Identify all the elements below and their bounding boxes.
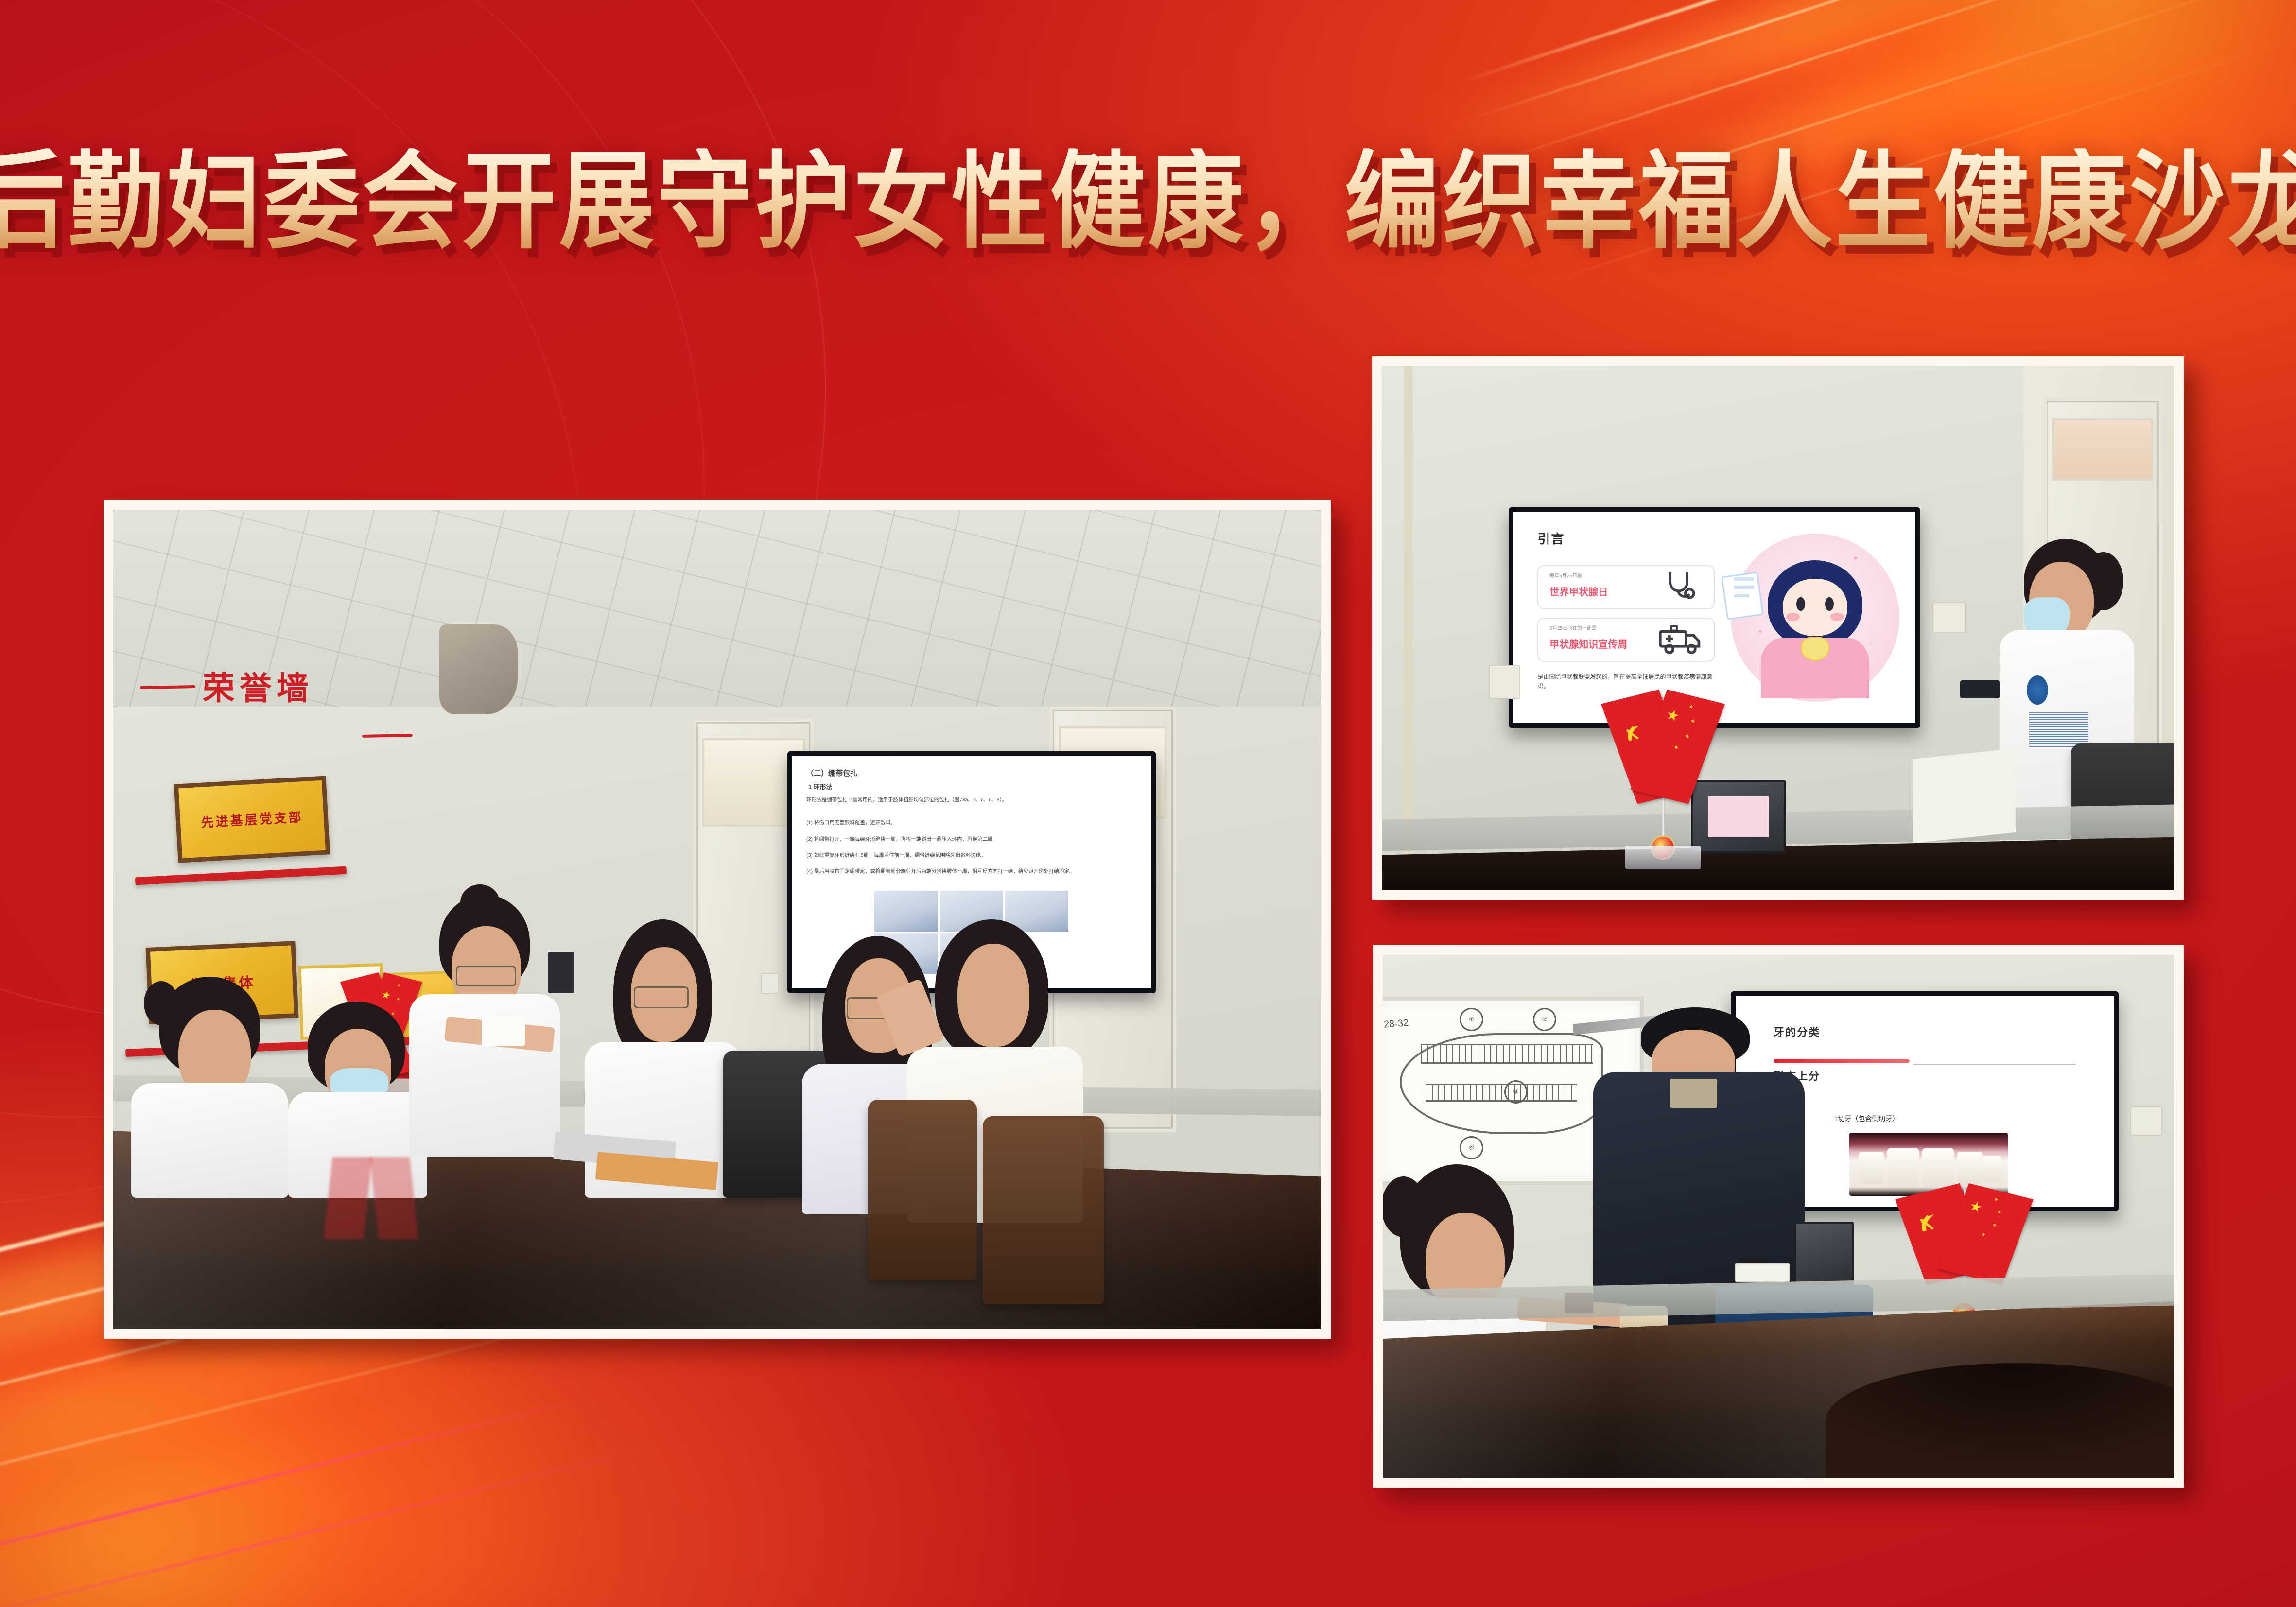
slide-line-1: (1) 将伤口用无菌敷料覆盖，避开敷料。 xyxy=(806,819,1136,827)
slide-line-2: (2) 将绷带打开，一端每绕环形缠绕一周，再将一端斜出一截压入环内，再绕第二周。 xyxy=(806,835,1136,844)
whiteboard-mark-4: ④ xyxy=(1460,1136,1483,1159)
slide-dental-item: 1切牙（包含侧切牙） xyxy=(1834,1114,1899,1123)
scene-main-conference-room: 荣誉墙 先进基层党支部 先进集体 家一样温暖 xyxy=(113,510,1321,1329)
wall-socket-dental xyxy=(2130,1106,2162,1135)
slide-title-intro: 引言 xyxy=(1537,529,1565,547)
power-adapter xyxy=(1735,1263,1790,1282)
whiteboard-mark-2: ② xyxy=(1533,1008,1556,1031)
thyroid-illustration: ✦ ✦ ✦ xyxy=(1731,534,1900,702)
wood-chair-2 xyxy=(983,1116,1104,1305)
wall-socket xyxy=(761,973,779,994)
laptop-dental xyxy=(1794,1222,1854,1284)
plaque-advanced-party-branch: 先进基层党支部 xyxy=(174,776,330,863)
slide-line-0: 环形法是绷带包扎中最常用的，适用于肢体粗细均匀部位的包扎（图78a、b、c、d、… xyxy=(806,796,1136,804)
card1-highlight: 世界甲状腺日 xyxy=(1549,584,1608,598)
slide-subheading: 1 环形法 xyxy=(808,782,833,791)
honor-wall-heading: 荣誉墙 xyxy=(203,662,313,709)
flag-reflection-right xyxy=(370,1157,418,1239)
pointer-remote xyxy=(1960,680,2000,698)
card2-highlight: 甲状腺知识宣传周 xyxy=(1549,637,1627,651)
whiteboard-mark-1: ① xyxy=(1460,1008,1483,1031)
scene-dental-room: 28-32 ① ② ③ ④ 牙的分类 xyxy=(1383,955,2174,1478)
ambulance-icon xyxy=(1658,622,1703,656)
teeth-row-lower xyxy=(1426,1084,1577,1102)
coat-embroidery xyxy=(2029,711,2088,747)
wall-socket-thyroid xyxy=(1932,602,1966,634)
desk-flags-thyroid: ★ ★ ★ ★ ★ xyxy=(1596,686,1730,869)
phone-held xyxy=(548,952,575,993)
slide-heading: （二）绷带包扎 xyxy=(806,768,857,778)
hammer-sickle-icon xyxy=(1911,1204,1948,1243)
thyroid-gland-graphic xyxy=(1802,638,1829,659)
scene-thyroid-room: 引言 每年5月25日是 世界甲状腺日 5月25日所在的一周是 xyxy=(1382,366,2174,890)
photo-main-training: 荣誉墙 先进基层党支部 先进集体 家一样温暖 xyxy=(104,500,1331,1339)
whiteboard-mark-3: ③ xyxy=(1504,1080,1528,1104)
wall-seam xyxy=(1404,366,1413,890)
bandage-roll xyxy=(482,1016,525,1046)
stethoscope-icon xyxy=(1662,569,1698,603)
poster-canvas: 后勤妇委会开展守护女性健康，编织幸福人生健康沙龙 荣誉墙 先进基层党支部 先进集… xyxy=(0,0,2296,1607)
teeth-row-upper xyxy=(1421,1044,1593,1064)
paper-sheet xyxy=(1913,748,2016,843)
person-seated-left xyxy=(131,977,288,1198)
card2-date-label: 5月25日所在的一周是 xyxy=(1549,624,1597,631)
photo-thyroid-lecture: 引言 每年5月25日是 世界甲状腺日 5月25日所在的一周是 xyxy=(1372,356,2184,900)
scarf xyxy=(1670,1079,1717,1108)
photo-dental-lecture: 28-32 ① ② ③ ④ 牙的分类 xyxy=(1373,945,2184,1488)
slide-line-4: (4) 最后用胶布固定绷带尾，或将绷带尾分端剪开后两端分别绕肢体一周，相互反方向… xyxy=(806,867,1136,876)
whiteboard-number: 28-32 xyxy=(1384,1018,1409,1031)
slide-line-3: (3) 如此重复环形缠绕4~5周，每周盖住前一周，绷带缠绕范围略超出敷料边缘。 xyxy=(806,851,1136,860)
wood-chair-1 xyxy=(868,1100,977,1280)
card1-date-label: 每年5月25日是 xyxy=(1549,571,1582,579)
coat-badge xyxy=(2027,675,2048,705)
wall-socket-left xyxy=(1489,665,1520,699)
